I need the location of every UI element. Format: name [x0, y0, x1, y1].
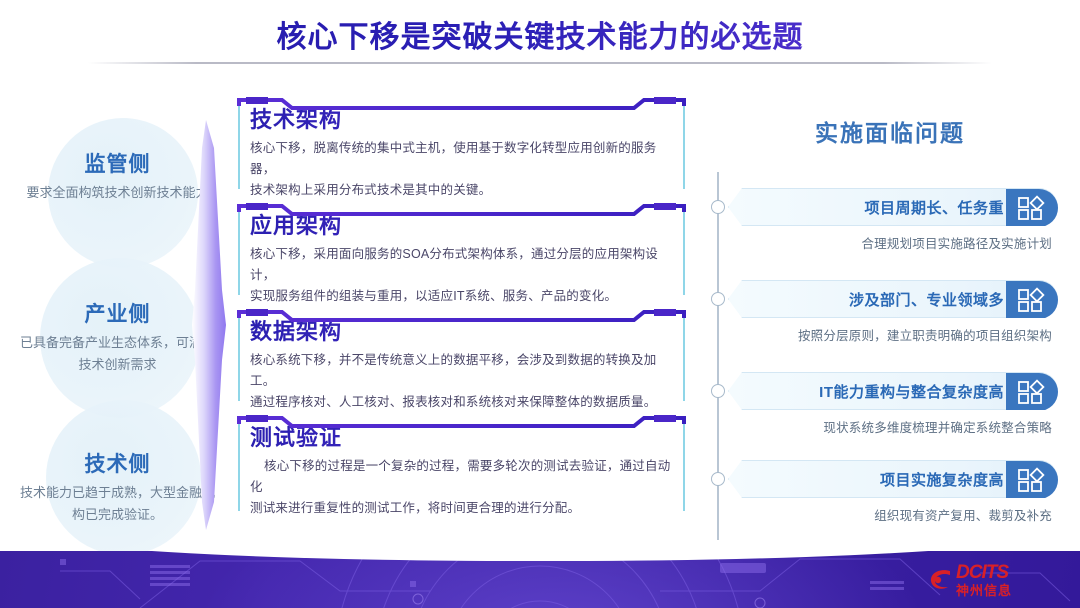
title-bar: 核心下移是突破关键技术能力的必选题	[0, 0, 1080, 72]
blocks-diamond-icon	[1006, 461, 1058, 499]
problem-pill-2[interactable]: 涉及部门、专业领域多	[728, 280, 1058, 318]
problem-item-3[interactable]: IT能力重构与整合复杂度高 现状系统多维度梳理并确定系统整合策略	[728, 372, 1058, 436]
card-text-tech-1: 核心下移，脱离传统的集中式主机，使用基于数字化转型应用创新的服务器，	[250, 138, 674, 180]
page-title: 核心下移是突破关键技术能力的必选题	[0, 12, 1080, 56]
blocks-diamond-icon	[1006, 281, 1058, 319]
problem-label-4: 项目实施复杂度高	[880, 469, 1004, 490]
card-data-architecture[interactable]: 数据架构 核心系统下移，并不是传统意义上的数据平移，会涉及到数据的转换及加工。 …	[236, 308, 688, 404]
card-text-app-1: 核心下移，采用面向服务的SOA分布式架构体系，通过分层的应用架构设计，	[250, 244, 674, 286]
problem-desc-4: 组织现有资产复用、裁剪及补充	[728, 505, 1058, 524]
problem-desc-3: 现状系统多维度梳理并确定系统整合策略	[728, 417, 1058, 436]
logo-en: DCITS	[956, 563, 1012, 582]
problem-label-3: IT能力重构与整合复杂度高	[819, 381, 1004, 402]
card-text-app-2: 实现服务组件的组装与重用，以适应IT系统、服务、产品的变化。	[250, 286, 674, 307]
card-title-tech: 技术架构	[250, 106, 674, 133]
problem-pill-1[interactable]: 项目周期长、任务重	[728, 188, 1058, 226]
logo-text: DCITS 神州信息	[956, 563, 1012, 597]
problem-pill-4[interactable]: 项目实施复杂度高	[728, 460, 1058, 498]
title-divider	[88, 62, 992, 64]
card-text-test-1: 核心下移的过程是一个复杂的过程，需要多轮次的测试去验证，通过自动化	[250, 456, 674, 498]
card-text-tech-2: 技术架构上采用分布式技术是其中的关键。	[250, 180, 674, 201]
card-test-verification[interactable]: 测试验证 核心下移的过程是一个复杂的过程，需要多轮次的测试去验证，通过自动化 测…	[236, 414, 688, 514]
problem-pill-3[interactable]: IT能力重构与整合复杂度高	[728, 372, 1058, 410]
architecture-cards: 技术架构 核心下移，脱离传统的集中式主机，使用基于数字化转型应用创新的服务器， …	[236, 96, 688, 524]
card-tech-architecture[interactable]: 技术架构 核心下移，脱离传统的集中式主机，使用基于数字化转型应用创新的服务器， …	[236, 96, 688, 192]
logo-cn: 神州信息	[956, 584, 1012, 597]
problem-item-1[interactable]: 项目周期长、任务重 合理规划项目实施路径及实施计划	[728, 188, 1058, 252]
problem-desc-1: 合理规划项目实施路径及实施计划	[728, 233, 1058, 252]
card-text-data-1: 核心系统下移，并不是传统意义上的数据平移，会涉及到数据的转换及加工。	[250, 350, 674, 392]
timeline-dot-2	[711, 292, 725, 306]
footer-banner: DCITS 神州信息	[0, 551, 1080, 608]
problem-label-1: 项目周期长、任务重	[864, 197, 1004, 218]
card-title-app: 应用架构	[250, 212, 674, 239]
problem-item-2[interactable]: 涉及部门、专业领域多 按照分层原则，建立职责明确的项目组织架构	[728, 280, 1058, 344]
problem-label-2: 涉及部门、专业领域多	[849, 289, 1004, 310]
arrow-ribbon-icon	[192, 120, 228, 530]
problems-panel: 实施面临问题 项目周期长、任务重 合理规划项目实施路径及实施计划 涉及部门、专业…	[700, 100, 1080, 540]
timeline-dot-4	[711, 472, 725, 486]
card-app-architecture[interactable]: 应用架构 核心下移，采用面向服务的SOA分布式架构体系，通过分层的应用架构设计，…	[236, 202, 688, 298]
blocks-diamond-icon	[1006, 189, 1058, 227]
card-text-test-2: 测试来进行重复性的测试工作，将时间更合理的进行分配。	[250, 498, 674, 519]
problem-desc-2: 按照分层原则，建立职责明确的项目组织架构	[728, 325, 1058, 344]
card-text-data-2: 通过程序核对、人工核对、报表核对和系统核对来保障整体的数据质量。	[250, 392, 674, 413]
company-logo: DCITS 神州信息	[928, 559, 1068, 601]
timeline-dot-3	[711, 384, 725, 398]
card-title-data: 数据架构	[250, 318, 674, 345]
problems-title: 实施面临问题	[700, 114, 1080, 148]
card-title-test: 测试验证	[250, 424, 674, 451]
blocks-diamond-icon	[1006, 373, 1058, 411]
problem-item-4[interactable]: 项目实施复杂度高 组织现有资产复用、裁剪及补充	[728, 460, 1058, 524]
timeline-dot-1	[711, 200, 725, 214]
logo-swoosh-icon	[928, 567, 954, 593]
